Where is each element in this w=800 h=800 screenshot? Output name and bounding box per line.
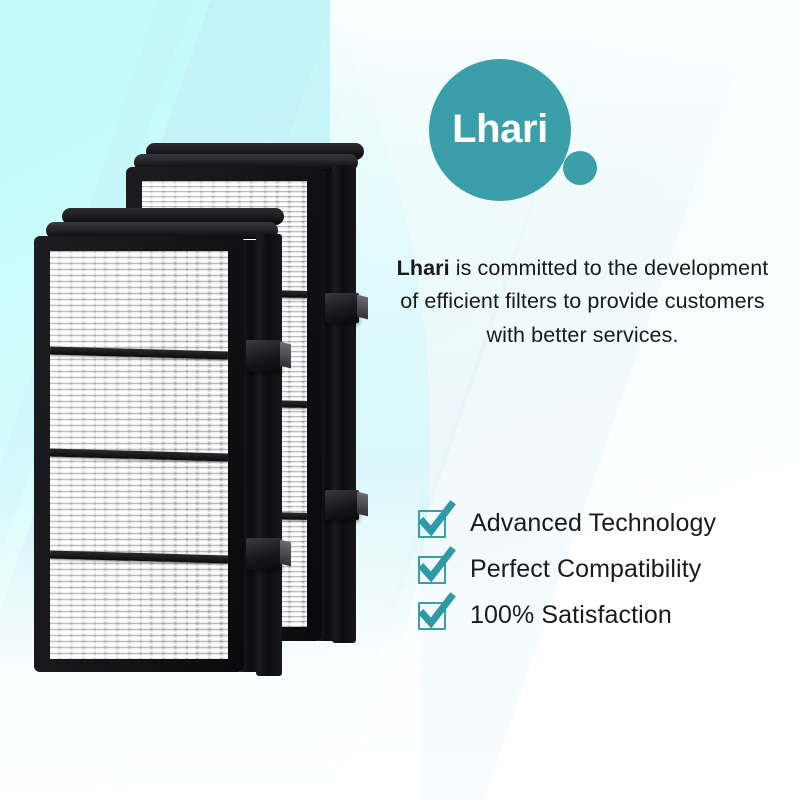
feature-item-perfect-compatibility[interactable]: Perfect Compatibility: [418, 546, 778, 592]
filter-clip-top: [325, 293, 359, 323]
brand-tagline: Lhari is committed to the development of…: [390, 252, 775, 352]
filter-clip-bottom: [325, 490, 359, 520]
filter-unit-front: [28, 212, 298, 682]
product-banner: Lhari Lhari is committed to the developm…: [0, 0, 800, 800]
brand-logo-circle: Lhari: [429, 59, 571, 201]
feature-label: Perfect Compatibility: [470, 555, 701, 584]
feature-list: Advanced Technology Perfect Compatibilit…: [418, 500, 778, 638]
filter-clip-top: [246, 340, 282, 372]
feature-label: Advanced Technology: [470, 509, 716, 538]
feature-item-advanced-technology[interactable]: Advanced Technology: [418, 500, 778, 546]
filter-clip-highlight: [357, 295, 368, 320]
filter-front-frame: [34, 236, 244, 672]
brand-accent-dot: [563, 151, 597, 185]
tagline-brand-word: Lhari: [397, 256, 450, 280]
brand-logo-text: Lhari: [452, 109, 548, 149]
filter-clip-bottom: [246, 538, 282, 570]
checkbox-checked-icon[interactable]: [418, 600, 448, 630]
filter-clip-highlight: [280, 540, 291, 566]
filter-clip-highlight: [357, 492, 368, 517]
feature-item-100-satisfaction[interactable]: 100% Satisfaction: [418, 592, 778, 638]
tagline-rest: is committed to the development of effic…: [400, 256, 768, 347]
product-image-hepa-filters: [0, 0, 420, 800]
checkbox-checked-icon[interactable]: [418, 554, 448, 584]
feature-label: 100% Satisfaction: [470, 601, 672, 630]
filter-media-window: [50, 251, 228, 659]
filter-clip-highlight: [280, 342, 291, 368]
checkbox-checked-icon[interactable]: [418, 508, 448, 538]
